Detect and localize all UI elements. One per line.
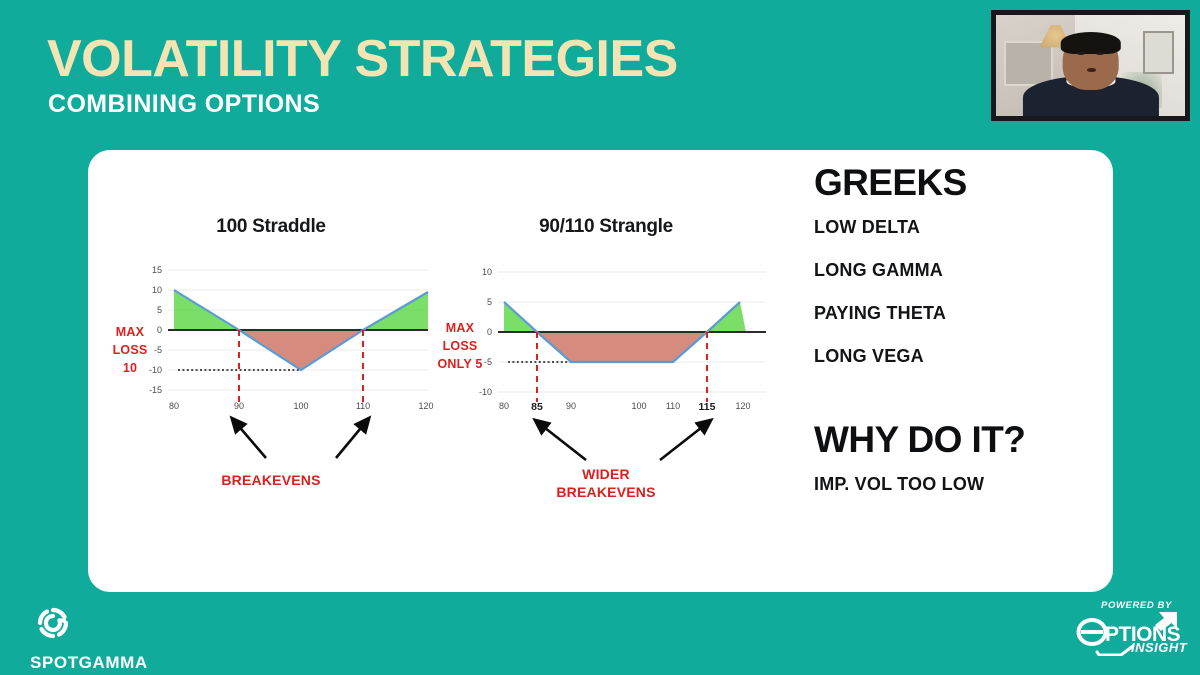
mirror-decor xyxy=(1004,41,1053,85)
chart-title-strangle: 90/110 Strangle xyxy=(436,216,776,238)
greeks-heading: GREEKS xyxy=(814,164,1104,203)
greek-item-low-delta: LOW DELTA xyxy=(814,217,1104,238)
svg-text:INSIGHT: INSIGHT xyxy=(1131,640,1188,655)
options-insight-logo: POWERED BY PTIONS INSIGHT xyxy=(1075,600,1190,656)
presenter-hair xyxy=(1060,32,1120,54)
x-axis-ticks: 80 90 100 110 120 xyxy=(169,401,434,411)
page-subtitle: COMBINING OPTIONS xyxy=(48,92,320,117)
svg-text:80: 80 xyxy=(169,401,179,411)
svg-text:-10: -10 xyxy=(479,387,492,397)
svg-text:90: 90 xyxy=(566,401,576,411)
greek-item-long-gamma: LONG GAMMA xyxy=(814,260,1104,281)
plot-area-strangle: 10 5 0 -5 -10 xyxy=(436,262,776,412)
chart-title-straddle: 100 Straddle xyxy=(106,216,436,238)
svg-text:115: 115 xyxy=(699,401,716,412)
x-axis-ticks: 80 85 90 100 110 115 120 xyxy=(499,401,751,412)
info-panel: GREEKS LOW DELTA LONG GAMMA PAYING THETA… xyxy=(814,164,1104,495)
svg-text:100: 100 xyxy=(631,401,646,411)
max-loss-label-strangle: MAX LOSS ONLY 5 xyxy=(424,320,496,373)
loss-fill xyxy=(537,332,707,362)
svg-text:120: 120 xyxy=(418,401,433,411)
picture-frame-decor xyxy=(1143,31,1173,73)
spotgamma-mark-icon xyxy=(30,600,76,646)
svg-text:-15: -15 xyxy=(149,385,162,395)
chart-straddle: 100 Straddle 15 10 5 0 -5 xyxy=(106,216,436,490)
content-card: 100 Straddle 15 10 5 0 -5 xyxy=(88,150,1113,592)
svg-text:10: 10 xyxy=(152,285,162,295)
why-do-it-reason: IMP. VOL TOO LOW xyxy=(814,474,1104,495)
svg-text:5: 5 xyxy=(157,305,162,315)
svg-text:120: 120 xyxy=(735,401,750,411)
svg-text:100: 100 xyxy=(293,401,308,411)
video-frame xyxy=(996,15,1185,116)
presenter-video-feed[interactable] xyxy=(991,10,1190,121)
options-insight-mark-icon: PTIONS INSIGHT xyxy=(1075,610,1190,656)
svg-text:5: 5 xyxy=(487,297,492,307)
page-title: VOLATILITY STRATEGIES xyxy=(47,33,678,85)
presenter-mouth xyxy=(1087,68,1096,72)
greek-item-paying-theta: PAYING THETA xyxy=(814,303,1104,324)
max-loss-label-straddle: MAX LOSS 10 xyxy=(102,324,158,377)
svg-text:85: 85 xyxy=(531,401,543,412)
greeks-list: LOW DELTA LONG GAMMA PAYING THETA LONG V… xyxy=(814,217,1104,367)
svg-text:15: 15 xyxy=(152,265,162,275)
chart-strangle: 90/110 Strangle 10 5 0 -5 -10 xyxy=(436,216,776,501)
breakeven-arrows-straddle xyxy=(106,414,436,476)
svg-text:110: 110 xyxy=(356,401,370,411)
svg-text:10: 10 xyxy=(482,267,492,277)
greek-item-long-vega: LONG VEGA xyxy=(814,346,1104,367)
spotgamma-logo: SPOTGAMMA xyxy=(30,600,180,673)
plot-area-straddle: 15 10 5 0 -5 -10 -15 xyxy=(106,262,436,412)
profit-fill xyxy=(504,302,746,332)
svg-text:110: 110 xyxy=(666,401,680,411)
svg-text:90: 90 xyxy=(234,401,244,411)
spotgamma-wordmark: SPOTGAMMA xyxy=(30,653,180,673)
wider-breakevens-label: WIDER BREAKEVENS xyxy=(436,466,776,501)
svg-text:80: 80 xyxy=(499,401,509,411)
breakevens-label-straddle: BREAKEVENS xyxy=(106,472,436,490)
why-do-it-heading: WHY DO IT? xyxy=(814,421,1104,460)
